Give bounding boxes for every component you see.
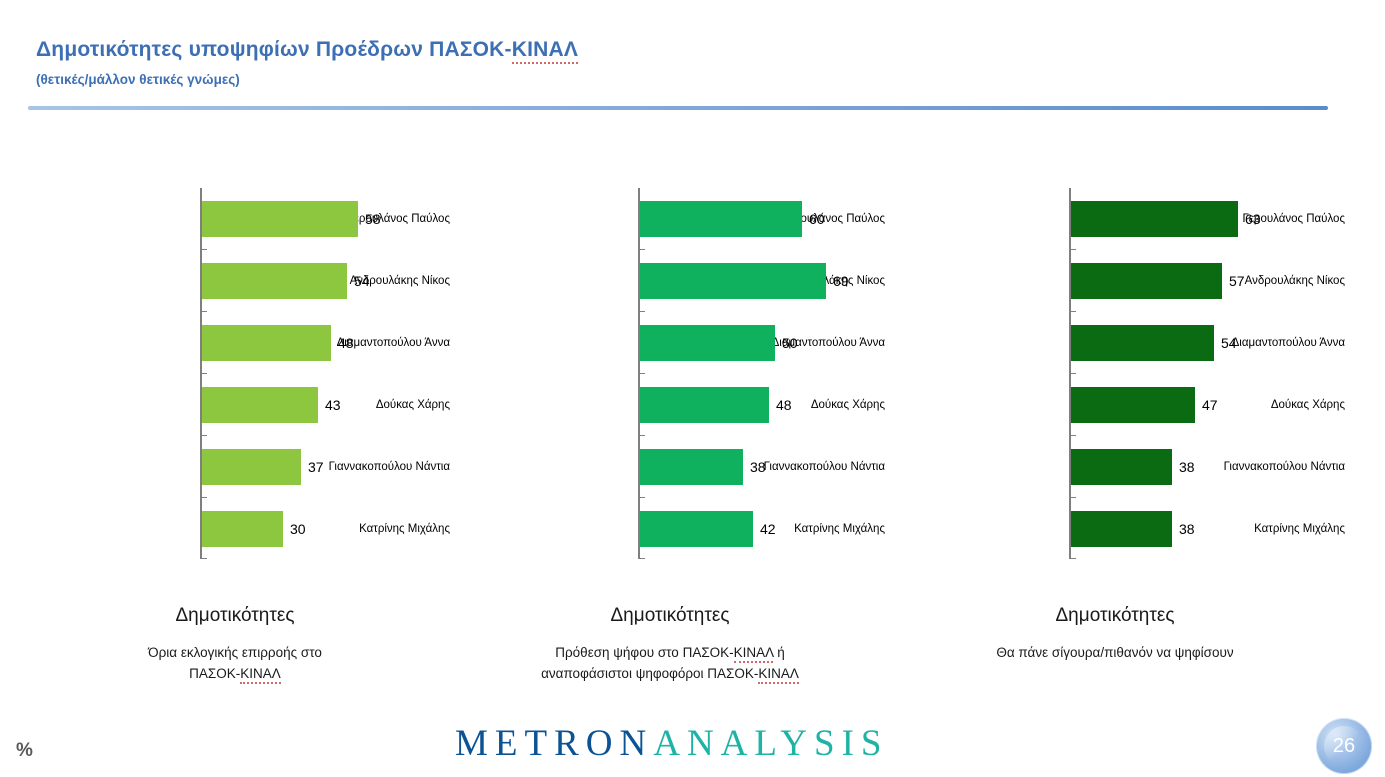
page-number: 26	[1333, 735, 1355, 758]
chart-row: Ανδρουλάκης Νίκος 54	[20, 250, 450, 312]
bar-group: 48	[640, 374, 792, 436]
bar-group: 57	[1071, 250, 1245, 312]
axis-tick	[638, 435, 645, 436]
chart-row: Δούκας Χάρης 47	[885, 374, 1345, 436]
bar	[640, 449, 743, 485]
bar	[640, 201, 802, 237]
header-divider	[28, 106, 1328, 110]
bar	[202, 263, 347, 299]
bar	[640, 263, 826, 299]
bar-group: 47	[1071, 374, 1218, 436]
category-label: Κατρίνης Μιχάλης	[1175, 523, 1345, 535]
axis-tick	[200, 311, 207, 312]
chart-row: Ανδρουλάκης Νίκος 69	[455, 250, 885, 312]
bar-value-label: 42	[760, 521, 776, 537]
bar-value-label: 30	[290, 521, 306, 537]
bar	[202, 449, 301, 485]
bar-value-label: 63	[1245, 211, 1261, 227]
metron-analysis-logo: METRONANALYSIS	[455, 722, 925, 768]
bar-value-label: 38	[750, 459, 766, 475]
chart-row: Κατρίνης Μιχάλης 30	[20, 498, 450, 560]
bar-value-label: 43	[325, 397, 341, 413]
bar-group: 48	[202, 312, 354, 374]
panel-subtitle-line1: Πρόθεση ψήφου στο ΠΑΣΟΚ-	[555, 645, 733, 660]
axis-tick	[638, 373, 645, 374]
panel-subtitle-line1: Όρια εκλογικής επιρροής στο	[148, 645, 322, 660]
bar	[202, 511, 283, 547]
chart-row: Γιαννακοπούλου Νάντια 37	[20, 436, 450, 498]
page-title-marked-text: ΚΙΝΑΛ	[512, 38, 578, 64]
panel-title: Δημοτικότητες	[20, 605, 450, 627]
category-label: Κατρίνης Μιχάλης	[284, 523, 450, 535]
bar-value-label: 57	[1229, 273, 1245, 289]
axis-tick	[1069, 373, 1076, 374]
axis-tick	[1069, 311, 1076, 312]
chart-row: Ανδρουλάκης Νίκος 57	[885, 250, 1345, 312]
bar-group: 63	[1071, 188, 1261, 250]
panel-subtitle-line1: Θα πάνε σίγουρα/πιθανόν να ψηφίσουν	[996, 645, 1233, 660]
page-subtitle: (θετικές/μάλλον θετικές γνώμες)	[36, 72, 240, 87]
bar-group: 54	[202, 250, 370, 312]
bar-group: 60	[640, 188, 825, 250]
bar	[1071, 263, 1222, 299]
bar-chart-3: Γερουλάνος Παύλος 63 Ανδρουλάκης Νίκος 5…	[885, 160, 1345, 535]
bar-group: 43	[202, 374, 341, 436]
bar-value-label: 37	[308, 459, 324, 475]
bar	[640, 325, 775, 361]
bar-group: 30	[202, 498, 306, 560]
axis-tick	[638, 558, 645, 559]
bar-value-label: 47	[1202, 397, 1218, 413]
panel-title: Δημοτικότητες	[455, 605, 885, 627]
bar-value-label: 50	[782, 335, 798, 351]
panel-subtitle: Όρια εκλογικής επιρροής στο ΠΑΣΟΚ-ΚΙΝΑΛ	[20, 642, 450, 684]
bar-group: 42	[640, 498, 776, 560]
bar-value-label: 58	[365, 211, 381, 227]
axis-tick	[200, 249, 207, 250]
panel-subtitle: Θα πάνε σίγουρα/πιθανόν να ψηφίσουν	[885, 642, 1345, 663]
panel-subtitle-marked: ΚΙΝΑΛ	[734, 645, 774, 663]
bar-group: 69	[640, 250, 849, 312]
logo-text-metron: METRON	[455, 723, 653, 764]
panel-subtitle-line1-post: ή	[773, 645, 784, 660]
bar-value-label: 38	[1179, 521, 1195, 537]
axis-tick	[1069, 558, 1076, 559]
bar-chart-2: Γερουλάνος Παύλος 60 Ανδρουλάκης Νίκος 6…	[455, 160, 885, 535]
page-title: Δημοτικότητες υποψηφίων Προέδρων ΠΑΣΟΚ-Κ…	[36, 38, 578, 62]
axis-tick	[638, 497, 645, 498]
chart-panel-1: Γερουλάνος Παύλος 58 Ανδρουλάκης Νίκος 5…	[20, 160, 450, 580]
chart-row: Διαμαντοπούλου Άννα 48	[20, 312, 450, 374]
bar-group: 58	[202, 188, 381, 250]
panel-title: Δημοτικότητες	[885, 605, 1345, 627]
bar	[1071, 387, 1195, 423]
axis-tick	[638, 249, 645, 250]
bar	[202, 201, 358, 237]
bar-chart-1: Γερουλάνος Παύλος 58 Ανδρουλάκης Νίκος 5…	[20, 160, 450, 535]
chart-panel-2: Γερουλάνος Παύλος 60 Ανδρουλάκης Νίκος 6…	[455, 160, 885, 580]
axis-tick	[1069, 497, 1076, 498]
panel-subtitle-marked-2: ΚΙΝΑΛ	[758, 666, 799, 684]
bar-group: 38	[1071, 498, 1195, 560]
bar-group: 38	[1071, 436, 1195, 498]
bar-group: 38	[640, 436, 766, 498]
panel-subtitle-line2: ΠΑΣΟΚ-	[189, 666, 240, 681]
bar-value-label: 54	[1221, 335, 1237, 351]
panel-subtitle: Πρόθεση ψήφου στο ΠΑΣΟΚ-ΚΙΝΑΛ ή αναποφάσ…	[455, 642, 885, 684]
logo-text-analysis: ANALYSIS	[653, 723, 888, 764]
panel-subtitle-marked: ΚΙΝΑΛ	[240, 666, 281, 684]
axis-tick	[200, 497, 207, 498]
chart-row: Κατρίνης Μιχάλης 42	[455, 498, 885, 560]
chart-row: Γερουλάνος Παύλος 63	[885, 188, 1345, 250]
axis-tick	[638, 311, 645, 312]
chart-row: Γιαννακοπούλου Νάντια 38	[455, 436, 885, 498]
bar-value-label: 69	[833, 273, 849, 289]
bar	[1071, 201, 1238, 237]
bar	[1071, 511, 1172, 547]
axis-tick	[200, 435, 207, 436]
bar-value-label: 48	[776, 397, 792, 413]
axis-tick	[1069, 435, 1076, 436]
axis-tick	[1069, 249, 1076, 250]
chart-row: Γερουλάνος Παύλος 58	[20, 188, 450, 250]
chart-row: Γερουλάνος Παύλος 60	[455, 188, 885, 250]
slide-header: Δημοτικότητες υποψηφίων Προέδρων ΠΑΣΟΚ-Κ…	[0, 0, 1385, 112]
chart-panel-3: Γερουλάνος Παύλος 63 Ανδρουλάκης Νίκος 5…	[885, 160, 1345, 580]
bar-value-label: 60	[809, 211, 825, 227]
bar-group: 37	[202, 436, 324, 498]
bar-value-label: 48	[338, 335, 354, 351]
page-title-text: Δημοτικότητες υποψηφίων Προέδρων ΠΑΣΟΚ-	[36, 38, 512, 61]
bar	[202, 325, 331, 361]
bar-value-label: 38	[1179, 459, 1195, 475]
panel-subtitle-line2: αναποφάσιστοι ψηφοφόροι ΠΑΣΟΚ-	[541, 666, 758, 681]
bar	[1071, 449, 1172, 485]
percent-symbol: %	[16, 740, 33, 762]
chart-row: Γιαννακοπούλου Νάντια 38	[885, 436, 1345, 498]
category-label: Γιαννακοπούλου Νάντια	[1175, 461, 1345, 473]
chart-row: Διαμαντοπούλου Άννα 54	[885, 312, 1345, 374]
axis-tick	[200, 373, 207, 374]
bar-value-label: 54	[354, 273, 370, 289]
chart-row: Δούκας Χάρης 43	[20, 374, 450, 436]
bar-group: 50	[640, 312, 798, 374]
chart-row: Δούκας Χάρης 48	[455, 374, 885, 436]
axis-tick	[200, 558, 207, 559]
bar-group: 54	[1071, 312, 1237, 374]
page-number-badge: 26	[1316, 718, 1372, 774]
chart-row: Κατρίνης Μιχάλης 38	[885, 498, 1345, 560]
bar	[202, 387, 318, 423]
chart-row: Διαμαντοπούλου Άννα 50	[455, 312, 885, 374]
bar	[1071, 325, 1214, 361]
bar	[640, 511, 753, 547]
bar	[640, 387, 769, 423]
